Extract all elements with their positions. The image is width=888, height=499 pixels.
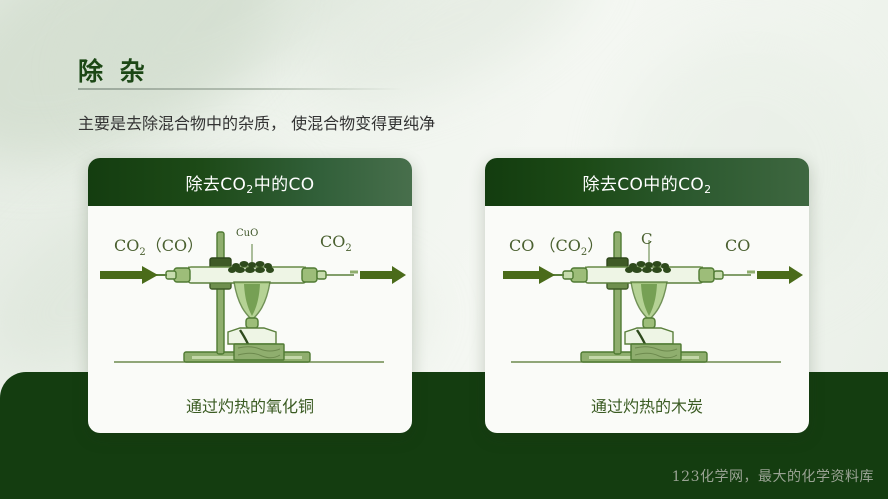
reagent-label: C [641,230,652,248]
inlet-label-post: ） [587,236,603,255]
card-caption: 通过灼热的氧化铜 [88,393,412,417]
card-header: 除去CO2中的CO [88,158,412,206]
page-subtitle: 主要是去除混合物中的杂质， 使混合物变得更纯净 [78,112,508,135]
slide-canvas: 123化学网，最大的化学资料库 除 杂 主要是去除混合物中的杂质， 使混合物变得… [0,0,888,499]
page-title: 除 杂 [78,52,149,88]
card-body: CO （CO2） C CO 通过灼热的木炭 [485,206,809,433]
inlet-arrow-icon [100,266,158,284]
title-divider [78,88,403,90]
card-title-post: 中的CO [254,175,315,195]
card-body: CO2（CO） CuO CO2 通过灼热的氧化铜 [88,206,412,433]
outlet-arrow-icon [757,266,803,284]
card-title-sub: 2 [704,183,711,196]
outlet-gas-label: CO [725,236,750,255]
reagent-label: CuO [236,228,258,239]
inlet-arrow-icon [503,266,555,284]
card-remove-co2-from-co[interactable]: 除去CO中的CO2 [485,158,809,433]
card-title: 除去CO中的CO2 [582,170,711,195]
inlet-label-pre: CO （CO [509,236,581,255]
outlet-arrow-icon [360,266,406,284]
inlet-gas-label: CO （CO2） [509,232,603,258]
card-remove-co-from-co2[interactable]: 除去CO2中的CO [88,158,412,433]
inlet-label-pre: CO [114,236,139,255]
outlet-label-pre: CO [725,236,750,255]
outlet-gas-label: CO2 [320,232,352,254]
card-caption: 通过灼热的木炭 [485,393,809,417]
inlet-label-post: （CO） [146,236,203,255]
card-header: 除去CO中的CO2 [485,158,809,206]
outlet-label-pre: CO [320,232,345,251]
outlet-label-sub: 2 [345,243,351,254]
card-title-pre: 除去CO中的CO [582,175,704,195]
card-title-pre: 除去CO [185,175,246,195]
footer-watermark: 123化学网，最大的化学资料库 [672,466,874,486]
card-title: 除去CO2中的CO [185,170,314,195]
card-title-sub: 2 [246,183,253,196]
inlet-gas-label: CO2（CO） [114,232,203,258]
